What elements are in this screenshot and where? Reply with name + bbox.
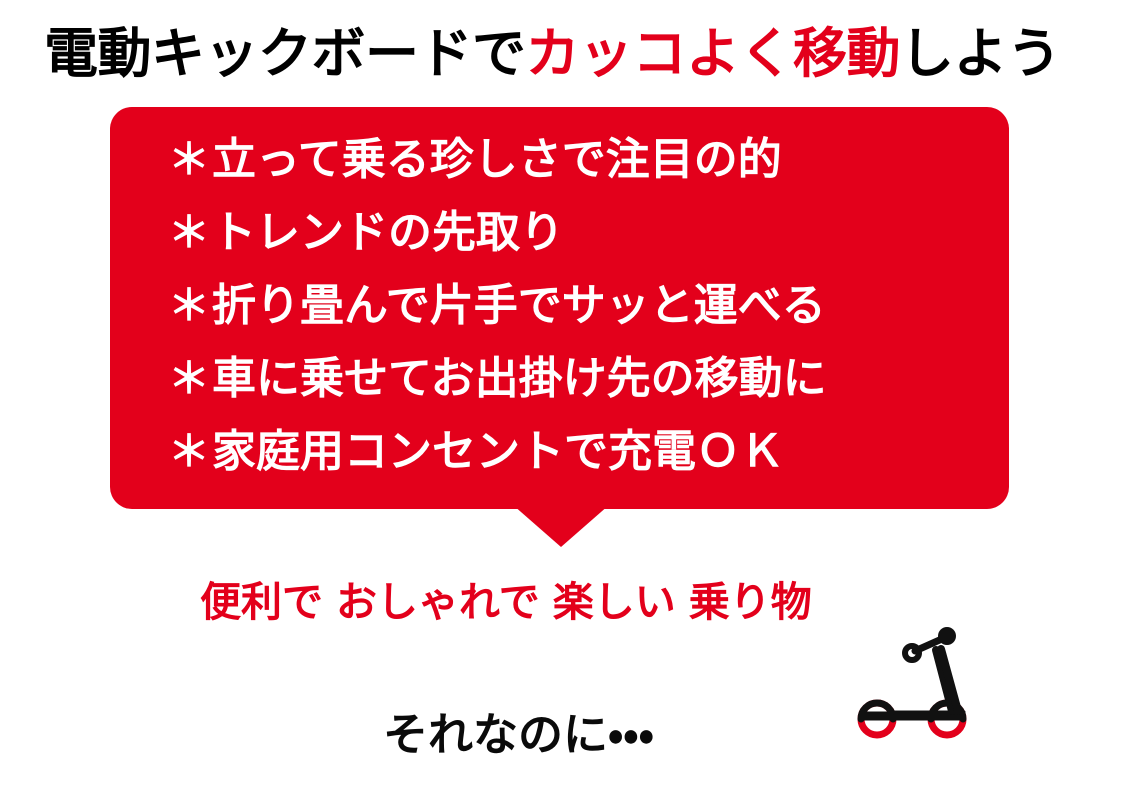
kick-scooter-icon [848,616,988,756]
callout-tail-triangle [513,505,609,547]
asterisk-icon: ＊ [168,342,212,415]
asterisk-icon: ＊ [168,196,212,269]
list-item: ＊ 立って乗る珍しさで注目の的 [168,123,989,196]
asterisk-icon: ＊ [168,123,212,196]
list-item-label: 立って乗る珍しさで注目の的 [212,123,782,196]
poster-canvas: 電動キックボードでカッコよく移動しよう ＊ 立って乗る珍しさで注目の的 ＊ トレ… [0,0,1132,800]
page-title: 電動キックボードでカッコよく移動しよう [44,18,1104,90]
handlebar-grip-right [938,627,956,645]
closing-text-label: それなのに・・・ [383,712,654,757]
feature-list: ＊ 立って乗る珍しさで注目の的 ＊ トレンドの先取り ＊ 折り畳んで片手でサッと… [168,123,989,488]
list-item: ＊ 家庭用コンセントで充電ＯＫ [168,415,989,488]
list-item: ＊ 折り畳んで片手でサッと運べる [168,269,989,342]
feature-callout-box: ＊ 立って乗る珍しさで注目の的 ＊ トレンドの先取り ＊ 折り畳んで片手でサッと… [110,107,1009,509]
list-item: ＊ トレンドの先取り [168,196,989,269]
page-title-segment-black-lead: 電動キックボードで [44,27,526,81]
tagline: 便利で おしゃれで 楽しい 乗り物 [200,576,960,628]
tagline-word-3: 楽しい [553,582,676,623]
list-item-label: 家庭用コンセントで充電ＯＫ [212,415,784,488]
asterisk-icon: ＊ [168,415,212,488]
kick-scooter-graphic [848,616,988,756]
list-item-label: トレンドの先取り [212,196,564,269]
tagline-word-2: おしゃれで [336,582,540,623]
deck [861,712,964,719]
asterisk-icon: ＊ [168,269,212,342]
list-item: ＊ 車に乗せてお出掛け先の移動に [168,342,989,415]
list-item-label: 車に乗せてお出掛け先の移動に [212,342,827,415]
page-title-segment-red-accent: カッコよく移動 [526,27,901,81]
list-item-label: 折り畳んで片手でサッと運べる [212,269,826,342]
handlebar-grip-left [905,646,919,660]
page-title-segment-black-tail: しよう [900,27,1061,81]
tagline-word-1: 便利で [200,582,323,623]
tagline-word-4: 乗り物 [689,582,812,623]
